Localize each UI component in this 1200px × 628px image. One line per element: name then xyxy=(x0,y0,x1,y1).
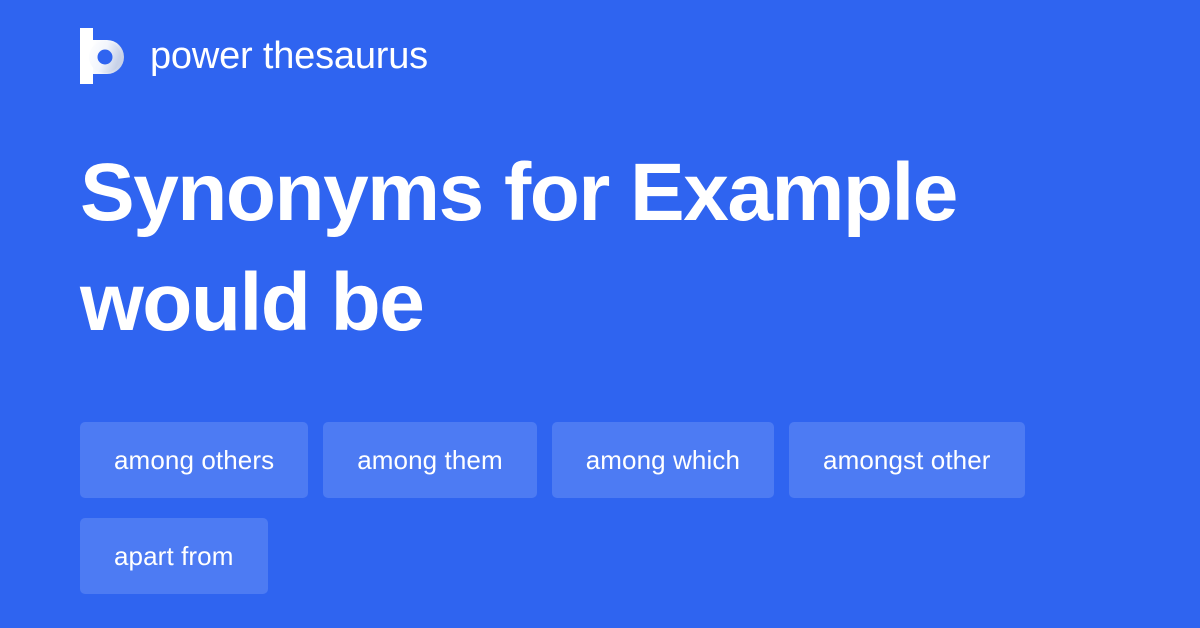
synonym-chip[interactable]: among others xyxy=(80,422,308,498)
synonym-chip-list: among others among them among which amon… xyxy=(80,422,1120,594)
synonym-chip[interactable]: among them xyxy=(323,422,537,498)
synonym-chip[interactable]: apart from xyxy=(80,518,268,594)
brand-logo[interactable]: power thesaurus xyxy=(80,28,428,84)
page-title: Synonyms for Example would be xyxy=(80,138,1080,358)
power-thesaurus-b-logo-icon xyxy=(80,28,128,84)
brand-name: power thesaurus xyxy=(150,37,428,75)
synonym-chip[interactable]: amongst other xyxy=(789,422,1025,498)
share-card: power thesaurus Synonyms for Example wou… xyxy=(0,0,1200,628)
synonym-chip[interactable]: among which xyxy=(552,422,774,498)
